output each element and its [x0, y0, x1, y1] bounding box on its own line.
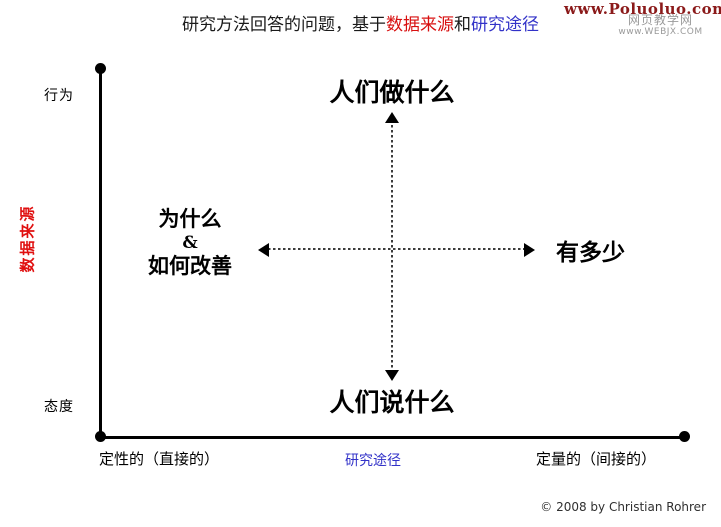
horizontal-dotted-arrow-line	[268, 248, 524, 250]
title-part1: 研究方法回答的问题，基于	[182, 15, 386, 35]
title-highlight-data-source: 数据来源	[386, 15, 454, 35]
vertical-dotted-arrow-line	[391, 120, 393, 372]
x-axis-line	[99, 436, 687, 439]
arrow-head-left-icon	[258, 243, 269, 257]
x-axis-left-tick-label: 定性的（直接的）	[99, 448, 219, 469]
page-title: 研究方法回答的问题，基于数据来源和研究途径	[0, 14, 721, 36]
title-highlight-research-approach: 研究途径	[471, 15, 539, 35]
x-axis-right-endpoint-dot	[679, 431, 690, 442]
arrow-head-up-icon	[385, 112, 399, 123]
quadrant-label-left: 为什么 & 如何改善	[110, 206, 270, 280]
quadrant-label-bottom: 人们说什么	[292, 388, 492, 418]
quadrant-label-top: 人们做什么	[292, 78, 492, 108]
x-axis-right-tick-label: 定量的（间接的）	[536, 448, 656, 469]
y-axis-top-tick-label: 行为	[44, 85, 74, 105]
arrow-head-down-icon	[385, 370, 399, 381]
quadrant-label-left-line1: 为什么	[159, 207, 222, 231]
title-conjunction: 和	[454, 15, 471, 35]
y-axis-bottom-tick-label: 态度	[44, 396, 74, 416]
copyright-footer: © 2008 by Christian Rohrer	[0, 500, 706, 514]
quadrant-label-left-ampersand: &	[110, 233, 270, 253]
y-axis-top-endpoint-dot	[95, 63, 106, 74]
x-axis-title: 研究途径	[345, 450, 401, 470]
arrow-head-right-icon	[524, 243, 535, 257]
y-axis-title: 数据来源	[17, 189, 38, 289]
axis-origin-dot	[95, 431, 106, 442]
quadrant-label-right: 有多少	[556, 233, 625, 267]
y-axis-line	[99, 72, 102, 438]
quadrant-label-left-line3: 如何改善	[148, 254, 232, 278]
